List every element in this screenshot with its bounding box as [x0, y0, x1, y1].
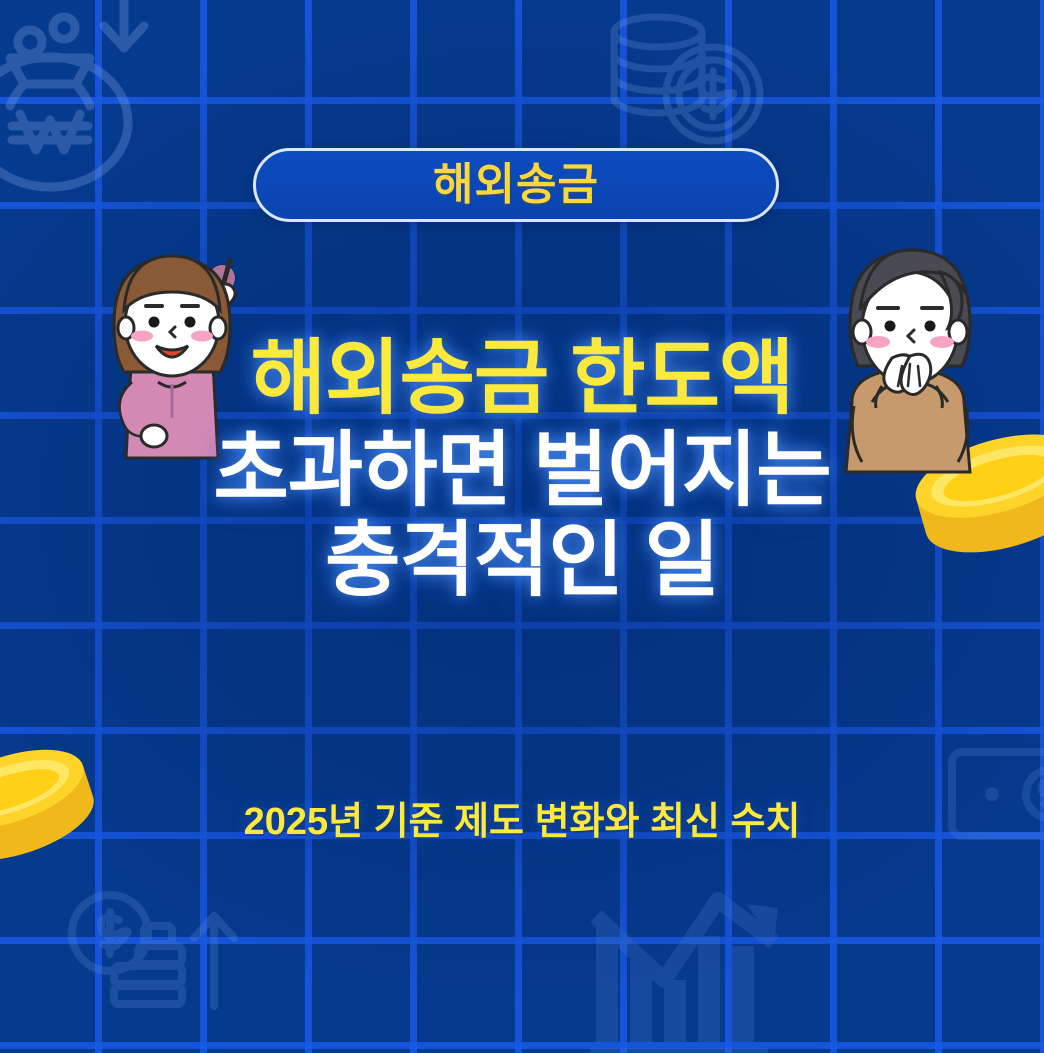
headline-line-1: 해외송금 한도액 — [0, 338, 1044, 420]
money-bag-won-down-arrow-icon — [0, 0, 202, 212]
poster-canvas: 해외송금 — [0, 0, 1044, 1053]
headline: 해외송금 한도액 초과하면 벌어지는 충격적인 일 — [0, 338, 1044, 602]
category-badge-label: 해외송금 — [433, 163, 599, 207]
bar-chart-trend-icon — [578, 884, 793, 1053]
coin-stack-dollar-icon — [598, 8, 778, 158]
coins-growth-arrow-icon — [62, 888, 252, 1028]
category-badge[interactable]: 해외송금 — [253, 148, 779, 222]
headline-line-2: 초과하면 벌어지는 — [0, 430, 1044, 512]
subtitle: 2025년 기준 제도 변화와 최신 수치 — [0, 790, 1044, 845]
headline-line-3: 충격적인 일 — [0, 520, 1044, 602]
